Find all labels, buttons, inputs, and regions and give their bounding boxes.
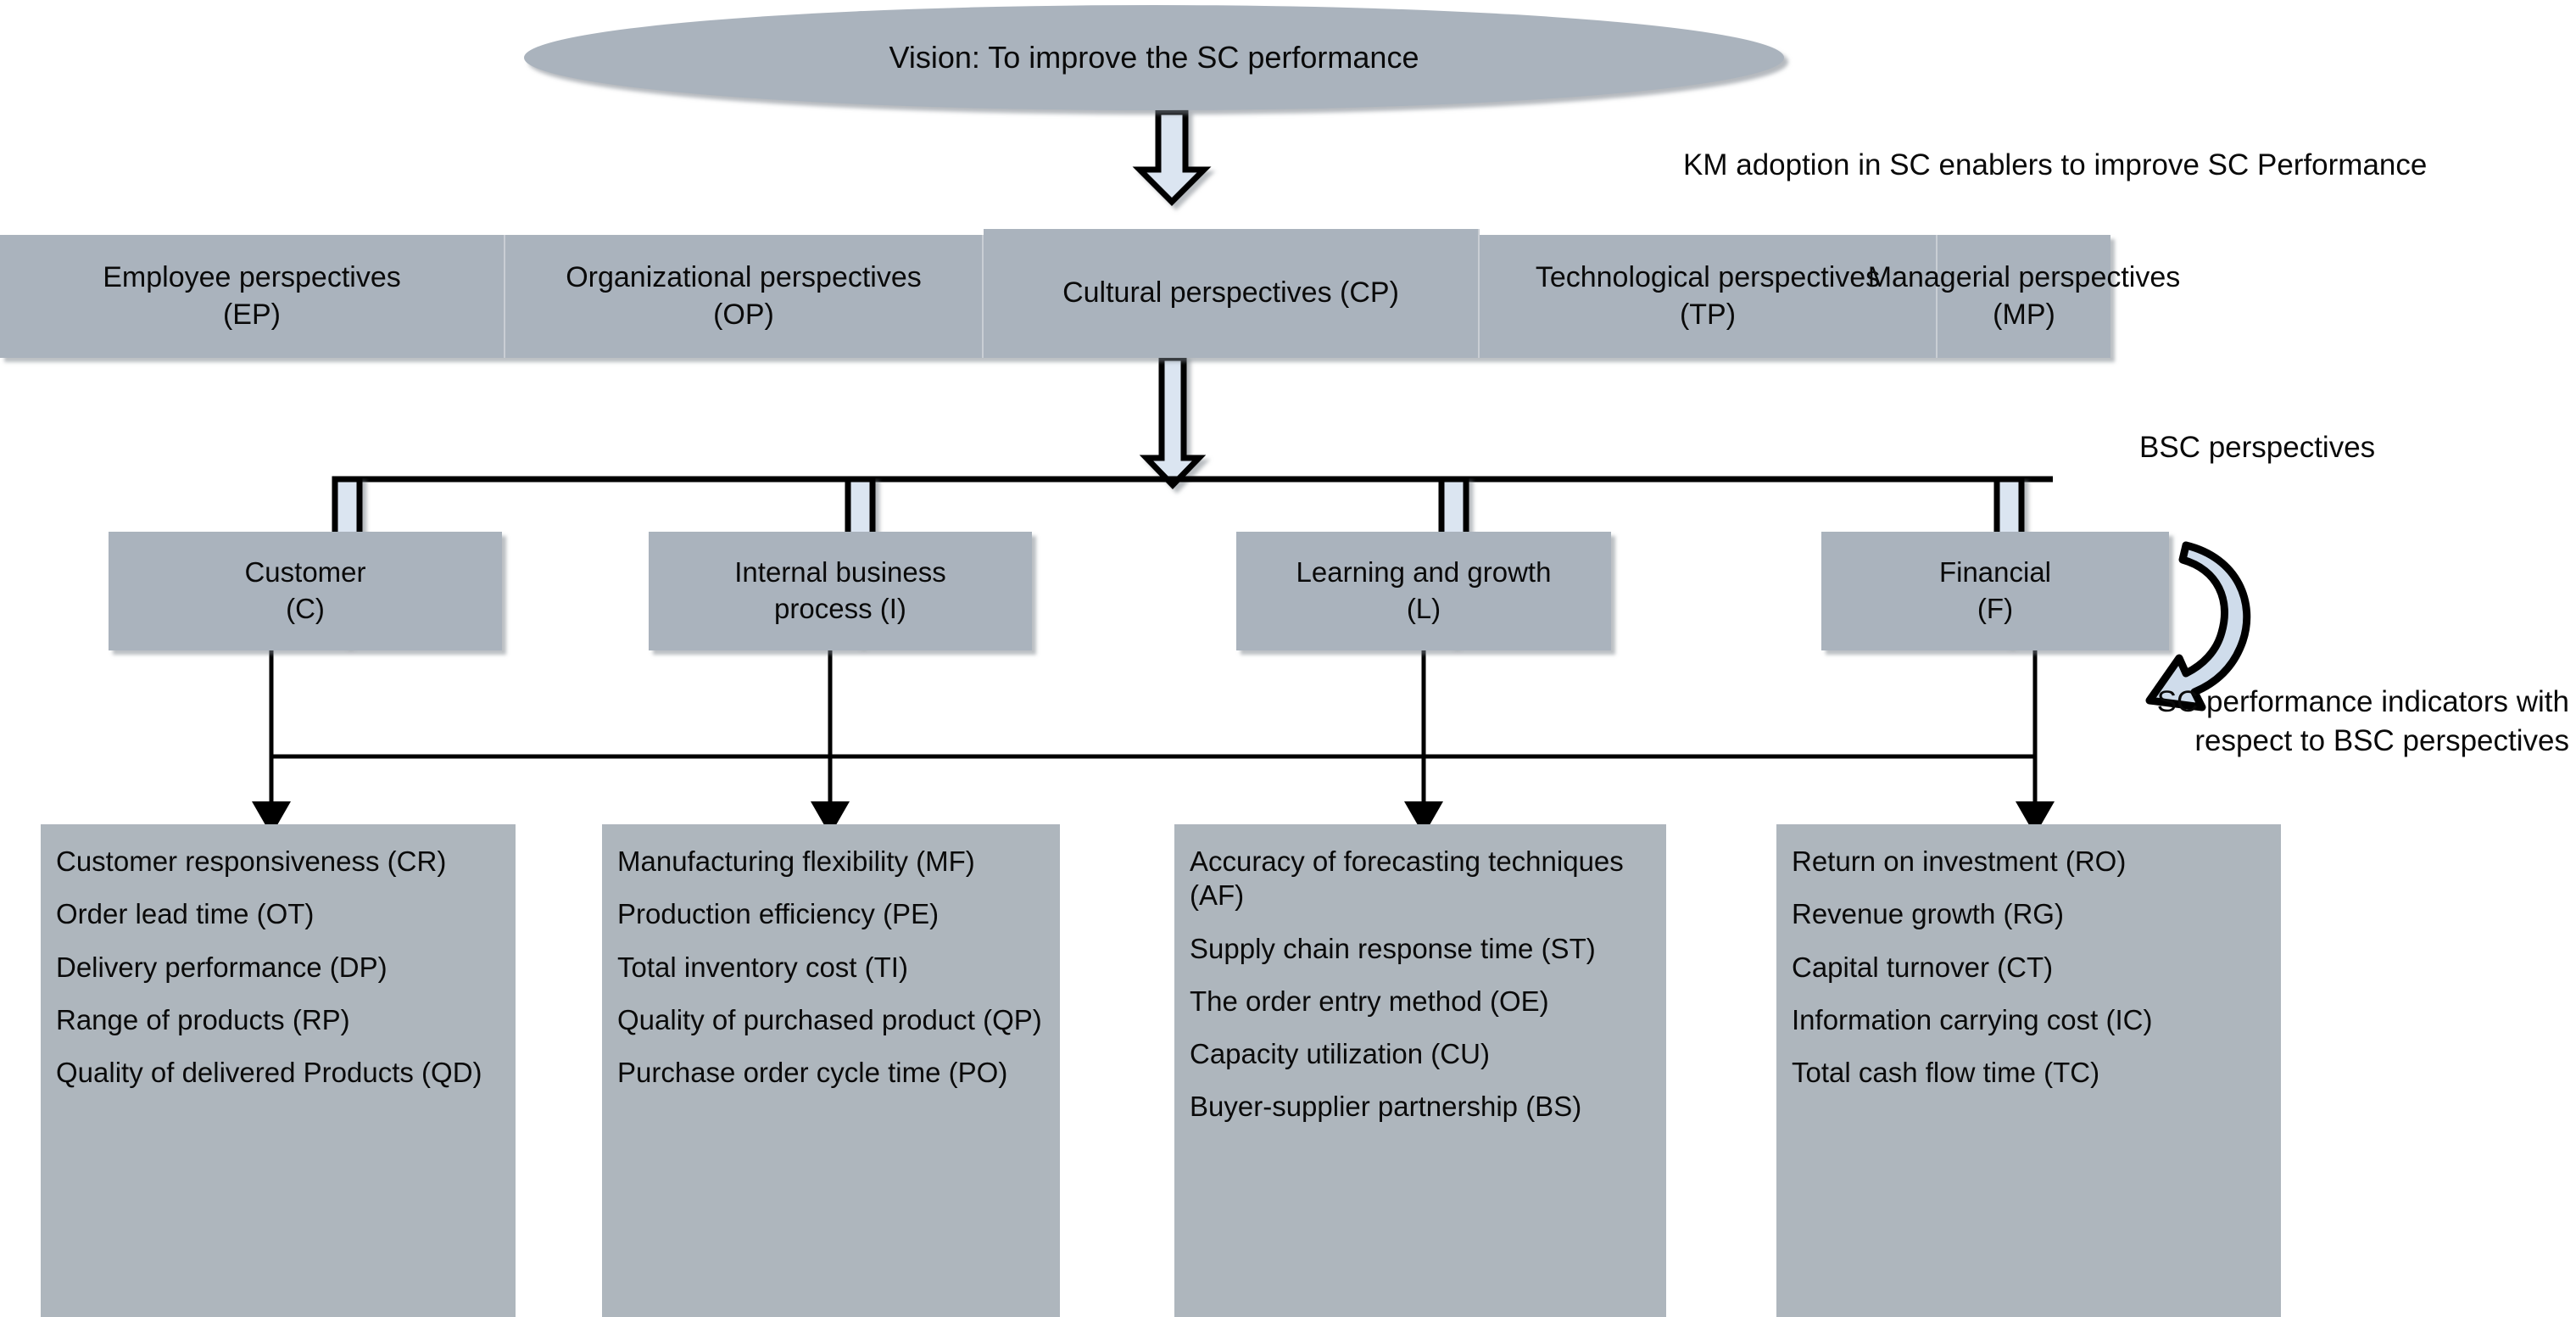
list-item: Quality of delivered Products (QD) [56,1056,499,1090]
list-item: Revenue growth (RG) [1792,897,2264,931]
list-item: Total inventory cost (TI) [617,951,1043,985]
bsc-box-financial[interactable]: Financial (F) [1821,532,2169,650]
bsc-box-customer[interactable]: Customer (C) [109,532,502,650]
indicator-list-financial: Return on investment (RO) Revenue growth… [1792,845,2264,1090]
perspective-label-managerial: Managerial perspectives (MP) [1868,259,2181,333]
perspective-label-organizational: Organizational perspectives (OP) [566,259,922,333]
diagram-canvas: Vision: To improve the SC performance KM… [0,0,2576,1317]
list-item: Information carrying cost (IC) [1792,1003,2264,1037]
list-item: Capacity utilization (CU) [1190,1037,1649,1071]
indicator-list-learning-and-growth: Accuracy of forecasting techniques (AF) … [1190,845,1649,1124]
perspective-cell-managerial[interactable]: Managerial perspectives (MP) [1938,235,2110,358]
bsc-box-learning-and-growth[interactable]: Learning and growth (L) [1236,532,1611,650]
list-item: Buyer-supplier partnership (BS) [1190,1090,1649,1124]
annotation-bsc-perspectives-text: BSC perspectives [2139,431,2375,464]
bsc-box-internal-business-process[interactable]: Internal business process (I) [649,532,1032,650]
indicator-box-learning-and-growth[interactable]: Accuracy of forecasting techniques (AF) … [1174,824,1666,1317]
list-item: Total cash flow time (TC) [1792,1056,2264,1090]
list-item: Range of products (RP) [56,1003,499,1037]
indicator-box-customer[interactable]: Customer responsiveness (CR) Order lead … [41,824,516,1317]
perspective-label-cultural: Cultural perspectives (CP) [1062,275,1399,312]
list-item: Purchase order cycle time (PO) [617,1056,1043,1090]
list-item: Accuracy of forecasting techniques (AF) [1190,845,1649,913]
annotation-sc-indicators: SC performance indicators with respect t… [2052,683,2569,760]
perspective-cell-cultural[interactable]: Cultural perspectives (CP) [984,229,1480,358]
block-arrow-vision-to-perspectives [1140,112,1204,202]
indicator-box-financial[interactable]: Return on investment (RO) Revenue growth… [1776,824,2281,1317]
list-item: Customer responsiveness (CR) [56,845,499,879]
block-arrow-perspectives-to-bsc-bus [1146,358,1199,485]
annotation-km-adoption-text: KM adoption in SC enablers to improve SC… [1683,148,2427,181]
indicator-box-internal-business-process[interactable]: Manufacturing flexibility (MF) Productio… [602,824,1060,1317]
annotation-sc-indicators-line1: SC performance indicators with [2157,685,2569,718]
vision-ellipse: Vision: To improve the SC performance [524,5,1784,110]
annotation-bsc-perspectives: BSC perspectives [2139,428,2563,467]
list-item: The order entry method (OE) [1190,985,1649,1018]
list-item: Capital turnover (CT) [1792,951,2264,985]
enabler-perspectives-bar: Employee perspectives (EP) Organizationa… [0,235,2110,358]
list-item: Return on investment (RO) [1792,845,2264,879]
annotation-sc-indicators-line2: respect to BSC perspectives [2194,724,2569,757]
list-item: Supply chain response time (ST) [1190,932,1649,966]
bsc-label-customer: Customer (C) [244,555,365,628]
indicator-list-internal-business-process: Manufacturing flexibility (MF) Productio… [617,845,1043,1090]
annotation-km-adoption: KM adoption in SC enablers to improve SC… [1683,146,2565,185]
list-item: Manufacturing flexibility (MF) [617,845,1043,879]
list-item: Order lead time (OT) [56,897,499,931]
list-item: Quality of purchased product (QP) [617,1003,1043,1037]
perspective-cell-organizational[interactable]: Organizational perspectives (OP) [505,235,984,358]
perspective-cell-employee[interactable]: Employee perspectives (EP) [0,235,505,358]
bsc-label-financial: Financial (F) [1939,555,2051,628]
perspective-label-employee: Employee perspectives (EP) [103,259,401,333]
list-item: Production efficiency (PE) [617,897,1043,931]
perspective-label-technological: Technological perspectives (TP) [1536,259,1880,333]
vision-label: Vision: To improve the SC performance [889,40,1419,75]
bsc-label-learning-and-growth: Learning and growth (L) [1296,555,1552,628]
list-item: Delivery performance (DP) [56,951,499,985]
bsc-label-internal-business-process: Internal business process (I) [734,555,945,628]
indicator-list-customer: Customer responsiveness (CR) Order lead … [56,845,499,1090]
